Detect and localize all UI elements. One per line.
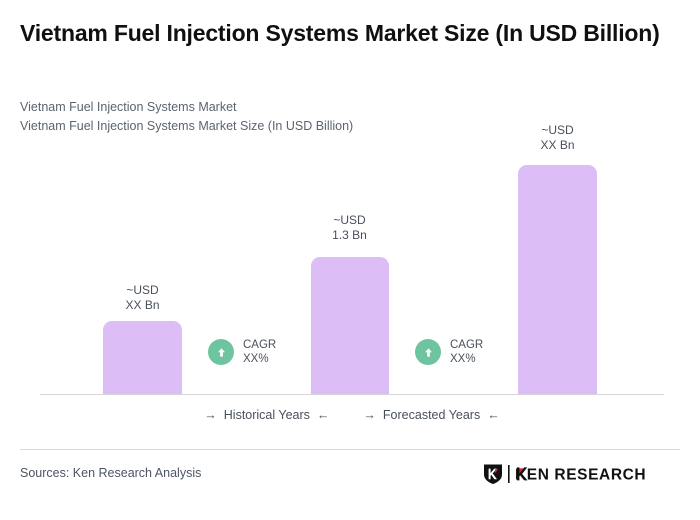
period-forecasted: → Forecasted Years ← [363,408,499,422]
svg-text:KEN RESEARCH: KEN RESEARCH [515,467,646,484]
arrow-right-icon: → [204,409,217,422]
bar-label-2-line1: ~USD [310,213,389,228]
cagr-label-1: CAGR [243,338,276,352]
bar-label-3: ~USD XX Bn [518,123,597,152]
bar-label-1-line1: ~USD [103,283,182,298]
bar-label-1: ~USD XX Bn [103,283,182,312]
arrow-up-icon [208,339,234,365]
x-axis-line [40,394,664,395]
ken-research-wordmark: KEN RESEARCH [508,464,673,484]
arrow-up-icon [415,339,441,365]
bar-label-2-line2: 1.3 Bn [310,228,389,243]
cagr-badge-forecast[interactable]: CAGR XX% [415,338,483,366]
period-label-row: → Historical Years ← → Forecasted Years … [40,408,664,422]
arrow-right-icon: → [363,409,376,422]
subtitle-market-name: Vietnam Fuel Injection Systems Market [20,98,660,117]
ken-research-shield-icon [482,463,504,485]
period-historical-label: Historical Years [224,408,310,422]
bar-label-1-line2: XX Bn [103,298,182,313]
plot-area: ~USD XX Bn CAGR XX% ~USD 1.3 Bn [0,0,700,520]
chart-header: Vietnam Fuel Injection Systems Market Si… [20,18,675,49]
ken-research-logo: KEN RESEARCH KEN RESEARCH [482,463,673,485]
cagr-value-1: XX% [243,352,276,366]
arrow-left-icon: ← [487,409,500,422]
bar-3-forecast[interactable] [518,165,597,394]
bar-label-2: ~USD 1.3 Bn [310,213,389,242]
period-historical: → Historical Years ← [204,408,329,422]
bar-label-3-line1: ~USD [518,123,597,138]
page-title: Vietnam Fuel Injection Systems Market Si… [20,18,675,49]
arrow-left-icon: ← [317,409,330,422]
bar-label-3-line2: XX Bn [518,138,597,153]
bar-1-historical[interactable] [103,321,182,394]
sources-text: Sources: Ken Research Analysis [20,466,201,480]
cagr-label-2: CAGR [450,338,483,352]
cagr-badge-historical[interactable]: CAGR XX% [208,338,276,366]
cagr-value-2: XX% [450,352,483,366]
footer-divider [20,449,680,450]
bar-2-mid[interactable] [311,257,389,394]
chart-page: Vietnam Fuel Injection Systems Market Si… [0,0,700,520]
cagr-text-forecast: CAGR XX% [450,338,483,366]
cagr-text-historical: CAGR XX% [243,338,276,366]
period-forecasted-label: Forecasted Years [383,408,480,422]
